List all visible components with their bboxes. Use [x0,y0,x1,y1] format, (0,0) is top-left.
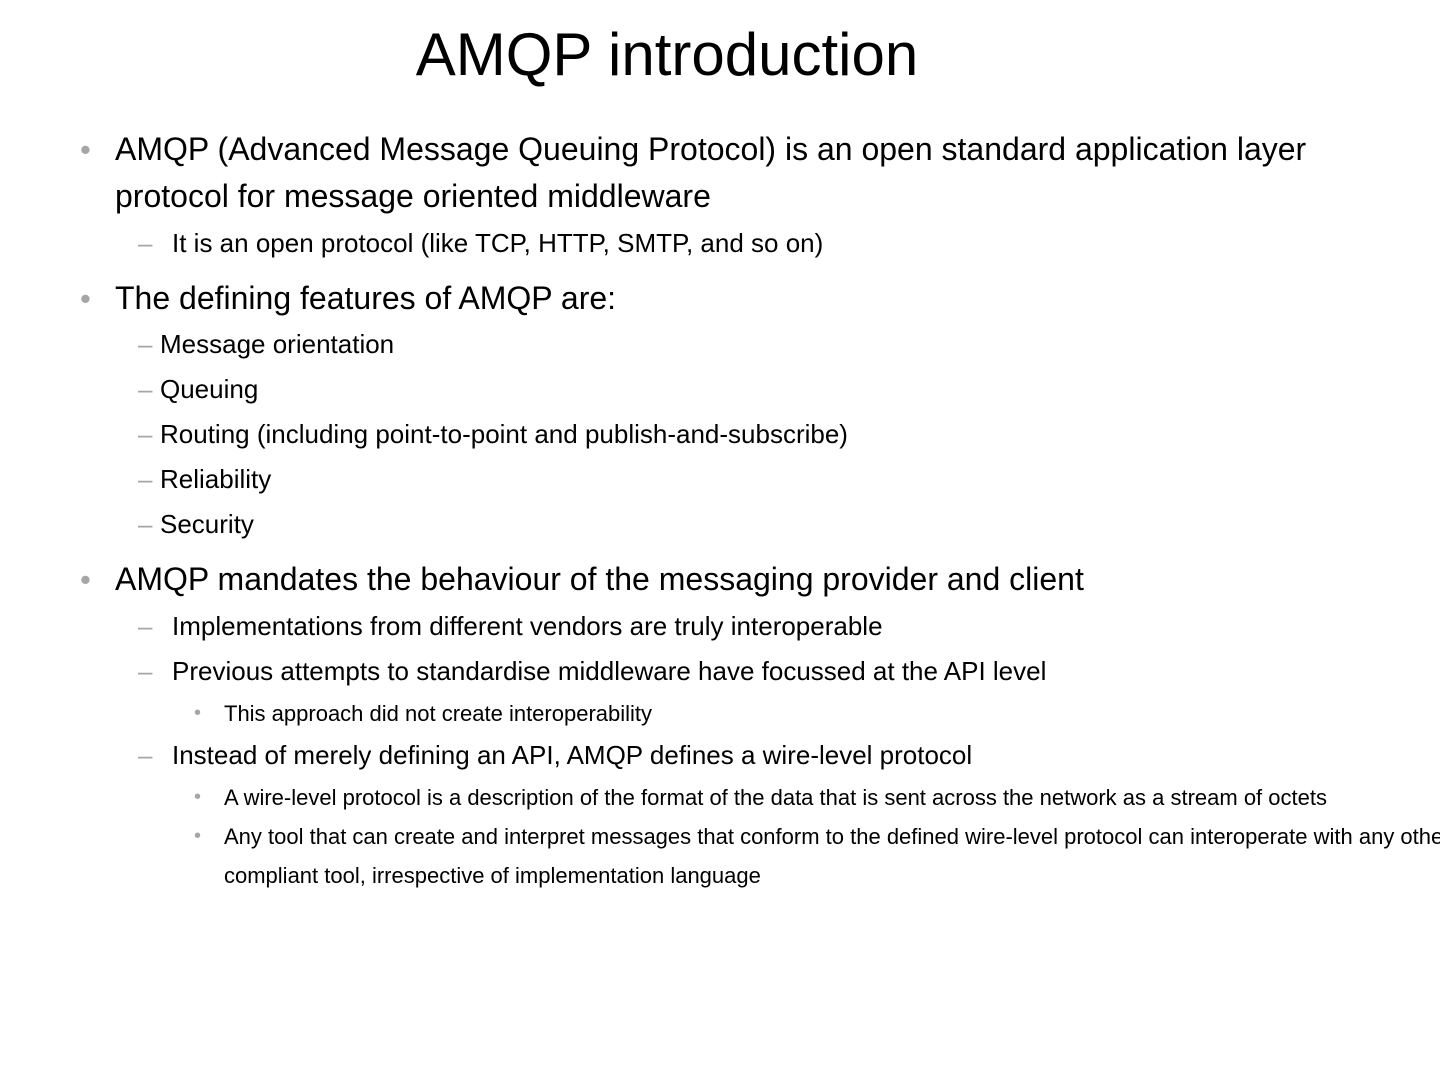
bullet-text: Security [160,502,1440,547]
bullet-dash-icon: – [138,412,160,457]
bullet-text: Previous attempts to standardise middlew… [172,649,1440,694]
bullet-text: Queuing [160,367,1440,412]
bullet-level3: • A wire-level protocol is a description… [76,778,1440,817]
bullet-text: Reliability [160,457,1440,502]
bullet-dot-icon: • [76,556,115,603]
bullet-dash-icon: – [138,649,172,694]
bullet-text: It is an open protocol (like TCP, HTTP, … [172,221,1440,266]
bullet-dot-icon: • [192,778,224,817]
bullet-dot-icon: • [76,126,115,173]
bullet-level2: – Reliability [76,457,1440,502]
bullet-text: Implementations from different vendors a… [172,604,1440,649]
page-title: AMQP introduction [0,22,1334,88]
bullet-level2: – Implementations from different vendors… [76,604,1440,649]
bullet-level2: – Message orientation [76,322,1440,367]
bullet-dot-icon: • [76,275,115,322]
bullet-level3: • Any tool that can create and interpret… [76,817,1440,895]
bullet-dash-icon: – [138,604,172,649]
bullet-text: The defining features of AMQP are: [115,275,1386,322]
bullet-level2: – Routing (including point-to-point and … [76,412,1440,457]
bullet-level2: – Security [76,502,1440,547]
bullet-text: Instead of merely defining an API, AMQP … [172,733,1440,778]
slide-body-content: • AMQP (Advanced Message Queuing Protoco… [76,126,1386,895]
bullet-level2: – Previous attempts to standardise middl… [76,649,1440,694]
bullet-text: Routing (including point-to-point and pu… [160,412,1440,457]
bullet-level2: – It is an open protocol (like TCP, HTTP… [76,221,1440,266]
slide-canvas: AMQP introduction • AMQP (Advanced Messa… [0,0,1440,1080]
bullet-dash-icon: – [138,733,172,778]
bullet-dot-icon: • [192,694,224,733]
bullet-dash-icon: – [138,367,160,412]
bullet-level1: • AMQP (Advanced Message Queuing Protoco… [76,126,1386,220]
bullet-dash-icon: – [138,502,160,547]
bullet-text: AMQP (Advanced Message Queuing Protocol)… [115,126,1386,220]
bullet-text: This approach did not create interoperab… [224,694,1440,733]
bullet-level2: – Queuing [76,367,1440,412]
bullet-dash-icon: – [138,322,160,367]
bullet-dot-icon: • [192,817,224,856]
bullet-dash-icon: – [138,457,160,502]
bullet-text: Message orientation [160,322,1440,367]
bullet-level3: • This approach did not create interoper… [76,694,1440,733]
bullet-text: Any tool that can create and interpret m… [224,817,1440,895]
bullet-text: AMQP mandates the behaviour of the messa… [115,556,1386,603]
bullet-dash-icon: – [138,221,172,266]
bullet-level1: • AMQP mandates the behaviour of the mes… [76,556,1386,603]
bullet-level2: – Instead of merely defining an API, AMQ… [76,733,1440,778]
bullet-level1: • The defining features of AMQP are: [76,275,1386,322]
bullet-text: A wire-level protocol is a description o… [224,778,1440,817]
